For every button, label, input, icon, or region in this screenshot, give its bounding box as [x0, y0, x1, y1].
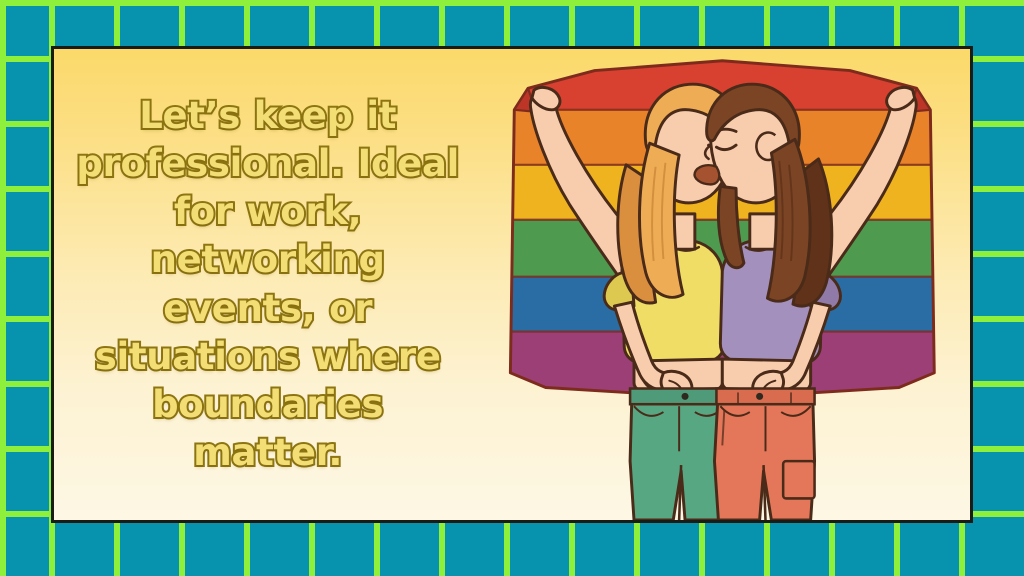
right-lips — [695, 165, 720, 184]
pride-couple-illustration — [475, 49, 970, 520]
slide-canvas: Let’s keep it professional. Ideal for wo… — [0, 0, 1024, 576]
right-pants-button — [756, 393, 763, 400]
caption-pane: Let’s keep it professional. Ideal for wo… — [54, 49, 475, 520]
illustration-pane — [475, 49, 970, 520]
left-pants-button — [682, 393, 689, 400]
right-cargo-pocket — [784, 461, 815, 498]
caption-text: Let’s keep it professional. Ideal for wo… — [74, 92, 461, 477]
content-card: Let’s keep it professional. Ideal for wo… — [51, 46, 973, 523]
left-waistband — [630, 389, 728, 405]
right-waistband — [717, 389, 815, 405]
